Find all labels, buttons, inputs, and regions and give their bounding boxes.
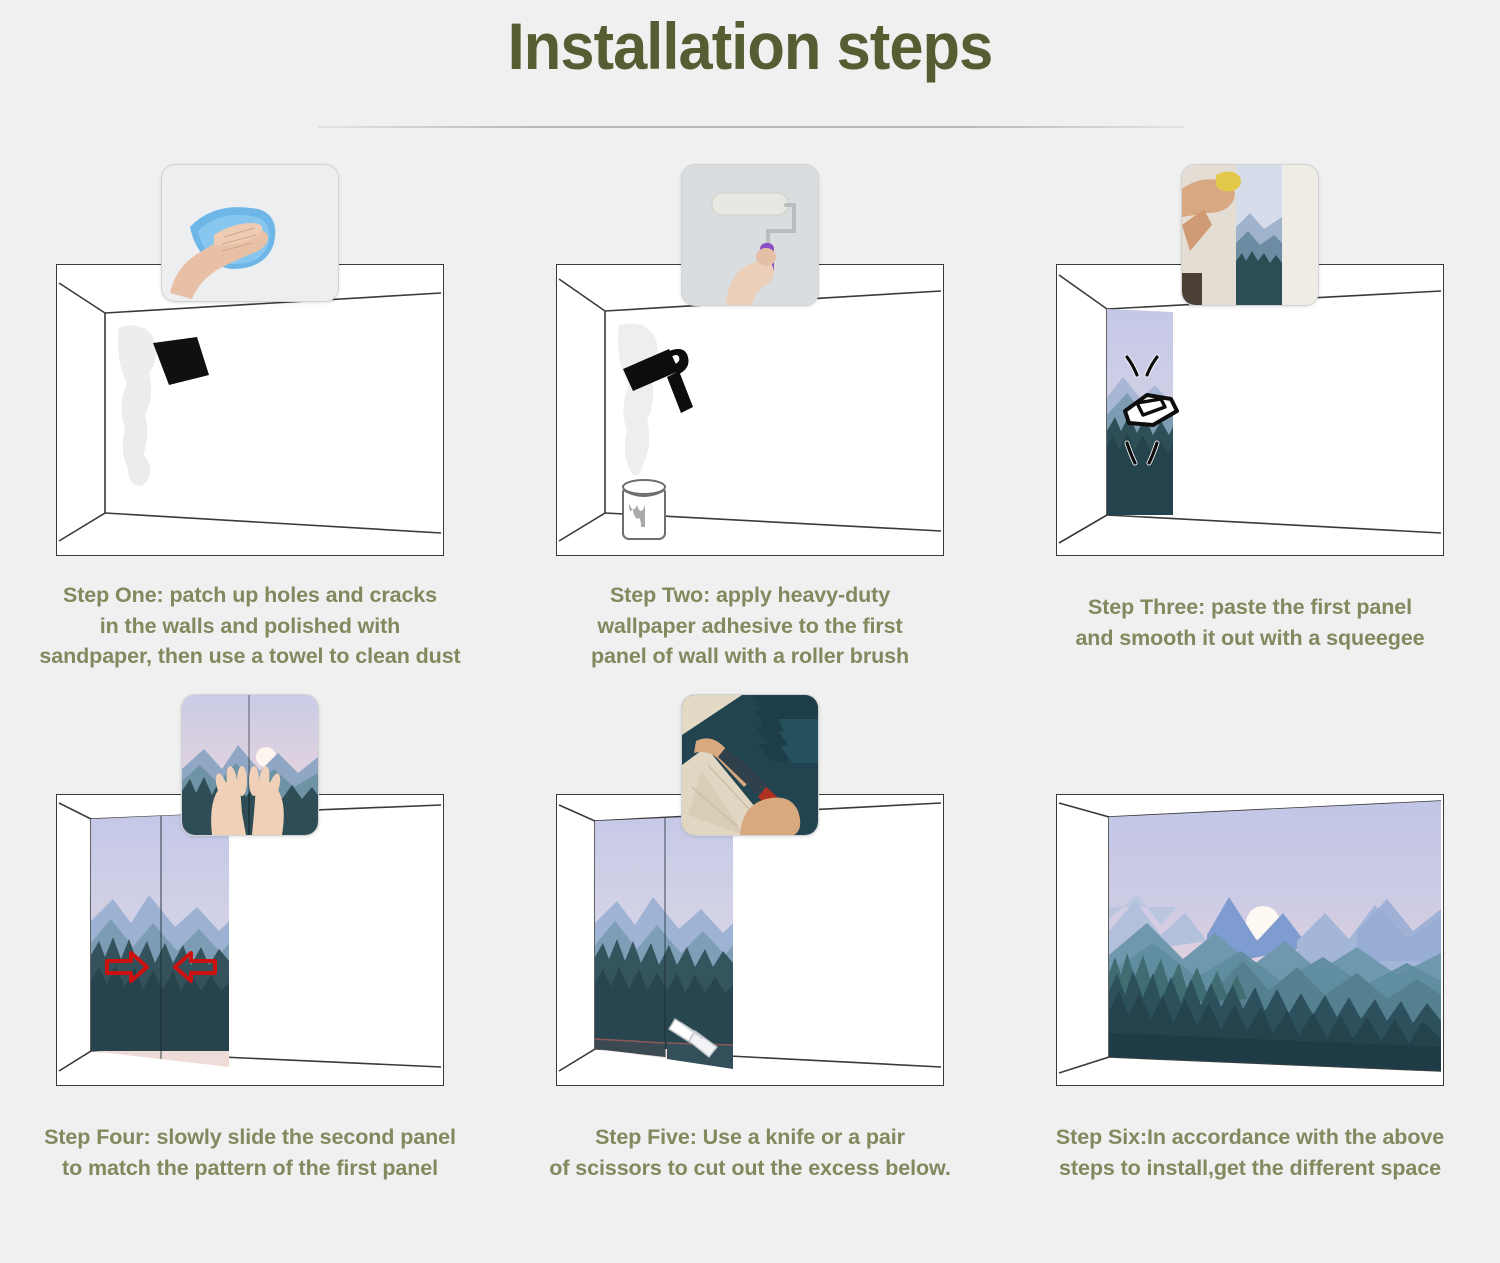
- photo-person-smoothing-panel-with-yellow-squeegee: [1181, 164, 1319, 306]
- caption-line: in the walls and polished with: [6, 611, 494, 642]
- caption-line: Step Three: paste the first panel: [1006, 592, 1494, 623]
- caption-line: of scissors to cut out the excess below.: [506, 1153, 994, 1184]
- caption-line: panel of wall with a roller brush: [506, 641, 994, 672]
- step-card-one: Step One: patch up holes and cracks in t…: [0, 160, 500, 690]
- diagram-room-with-first-panel-and-squeegee: [1056, 264, 1444, 556]
- caption-line: and smooth it out with a squeegee: [1006, 623, 1494, 654]
- diagram-room-with-finished-mountain-forest-mural: [1056, 794, 1444, 1086]
- caption-step-six: Step Six:In accordance with the above st…: [1006, 1122, 1494, 1183]
- photo-hand-wiping-wall-with-blue-cloth: [161, 164, 339, 302]
- caption-line: Step Four: slowly slide the second panel: [6, 1122, 494, 1153]
- caption-line: sandpaper, then use a towel to clean dus…: [6, 641, 494, 672]
- caption-step-one: Step One: patch up holes and cracks in t…: [6, 580, 494, 672]
- diagram-room-with-roller-and-paint-bucket: [556, 264, 944, 556]
- installation-steps-infographic: Installation steps: [0, 0, 1500, 1263]
- caption-step-three: Step Three: paste the first panel and sm…: [1006, 592, 1494, 653]
- caption-line: wallpaper adhesive to the first: [506, 611, 994, 642]
- diagram-room-with-panels-and-cutting-knife: [556, 794, 944, 1086]
- step-card-four: Step Four: slowly slide the second panel…: [0, 690, 500, 1220]
- caption-line: Step Five: Use a knife or a pair: [506, 1122, 994, 1153]
- caption-line: steps to install,get the different space: [1006, 1153, 1494, 1184]
- step-card-three: Step Three: paste the first panel and sm…: [1000, 160, 1500, 690]
- steps-row-top: Step One: patch up holes and cracks in t…: [0, 160, 1500, 690]
- caption-line: Step Two: apply heavy-duty: [506, 580, 994, 611]
- title-divider: [318, 126, 1184, 128]
- steps-grid: Step One: patch up holes and cracks in t…: [0, 160, 1500, 1220]
- step-card-six: Step Six:In accordance with the above st…: [1000, 690, 1500, 1220]
- steps-row-bottom: Step Four: slowly slide the second panel…: [0, 690, 1500, 1220]
- caption-line: Step Six:In accordance with the above: [1006, 1122, 1494, 1153]
- photo-hand-cutting-wallpaper-with-knife: [681, 694, 819, 836]
- step-card-five: Step Five: Use a knife or a pair of scis…: [500, 690, 1000, 1220]
- page-title: Installation steps: [53, 8, 1448, 84]
- photo-hand-holding-paint-roller: [681, 164, 819, 306]
- diagram-room-with-two-panels-and-red-arrows: [56, 794, 444, 1086]
- caption-line: Step One: patch up holes and cracks: [6, 580, 494, 611]
- diagram-room-with-sanding-sponge: [56, 264, 444, 556]
- photo-two-hands-pressing-mural-panels: [181, 694, 319, 836]
- caption-step-two: Step Two: apply heavy-duty wallpaper adh…: [506, 580, 994, 672]
- caption-step-four: Step Four: slowly slide the second panel…: [6, 1122, 494, 1183]
- step-card-two: Step Two: apply heavy-duty wallpaper adh…: [500, 160, 1000, 690]
- caption-line: to match the pattern of the first panel: [6, 1153, 494, 1184]
- caption-step-five: Step Five: Use a knife or a pair of scis…: [506, 1122, 994, 1183]
